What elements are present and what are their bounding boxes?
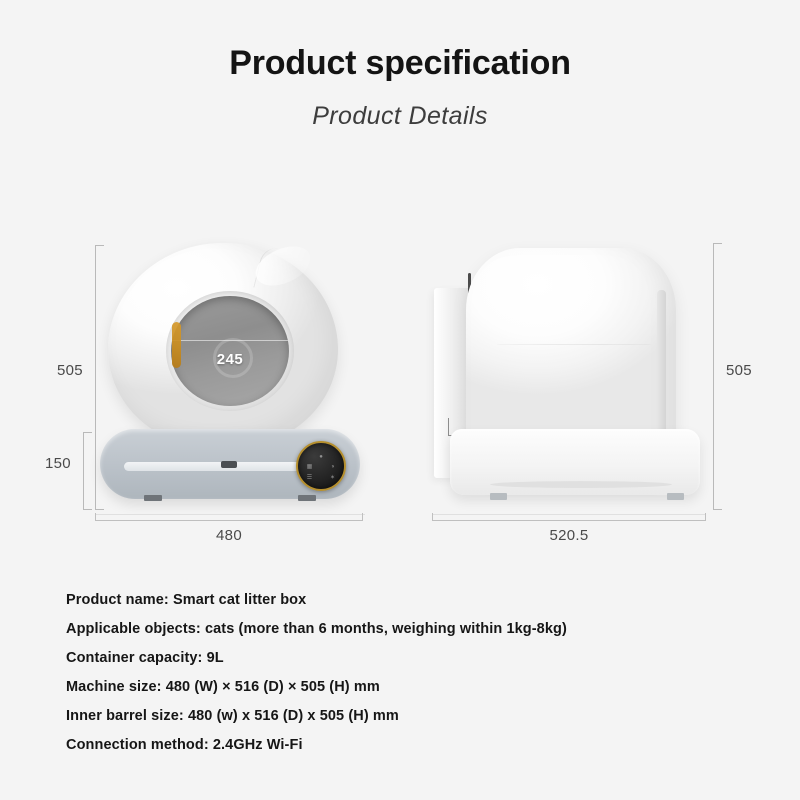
- litter-chamber: 245: [171, 296, 289, 406]
- spec-machine-size: Machine size: 480 (W) × 516 (D) × 505 (H…: [66, 679, 726, 695]
- front-foot-left: [144, 495, 162, 501]
- front-foot-right: [298, 495, 316, 501]
- base-slot: [124, 462, 312, 471]
- spec-applicable-objects: Applicable objects: cats (more than 6 mo…: [66, 621, 726, 637]
- control-panel-glyphs: ● ▦ ◑ ☰ ✶: [298, 452, 344, 483]
- mode-icon: ◑: [331, 464, 335, 470]
- dome-body: 245: [108, 243, 338, 448]
- front-floor-line: [95, 514, 365, 515]
- side-foot-right: [667, 493, 684, 500]
- front-base-height-label: 150: [45, 455, 71, 472]
- side-floor-line: [432, 514, 706, 515]
- product-base: ● ▦ ◑ ☰ ✶: [100, 429, 360, 499]
- base-port: [221, 461, 237, 468]
- side-height-label: 505: [726, 362, 752, 379]
- entrance-opening: 245: [166, 291, 294, 411]
- dome-seam: [253, 245, 303, 298]
- spec-connection-method: Connection method: 2.4GHz Wi-Fi: [66, 737, 726, 753]
- side-foot-left: [490, 493, 507, 500]
- side-right-edge: [657, 290, 666, 450]
- star-icon: ✶: [330, 475, 335, 481]
- page-title: Product specification: [0, 44, 800, 83]
- side-view-product-image: [432, 243, 707, 513]
- front-width-label: 480: [95, 527, 363, 544]
- specification-list: Product name: Smart cat litter box Appli…: [66, 592, 726, 766]
- front-view-product-image: 245 ● ▦ ◑ ☰ ✶: [100, 243, 360, 513]
- power-icon: ●: [319, 454, 323, 460]
- control-panel-dial: ● ▦ ◑ ☰ ✶: [296, 441, 346, 491]
- side-drawer: [450, 429, 700, 495]
- front-width-bracket: [95, 520, 363, 521]
- menu-icon: ☰: [307, 475, 312, 481]
- front-height-bracket: [95, 245, 96, 510]
- side-height-bracket: [713, 243, 714, 510]
- product-specification-page: Product specification Product Details 24…: [0, 0, 800, 800]
- side-width-label: 520.5: [432, 527, 706, 544]
- front-base-height-bracket: [83, 432, 84, 510]
- spec-product-name: Product name: Smart cat litter box: [66, 592, 726, 608]
- front-height-label: 505: [57, 362, 83, 379]
- spec-container-capacity: Container capacity: 9L: [66, 650, 726, 666]
- page-subtitle: Product Details: [0, 102, 800, 131]
- grid-icon: ▦: [307, 464, 313, 470]
- litter-level-value: 245: [171, 351, 289, 368]
- side-width-bracket: [432, 520, 706, 521]
- amber-accent-strip: [172, 322, 181, 368]
- spec-inner-barrel-size: Inner barrel size: 480 (w) x 516 (D) x 5…: [66, 708, 726, 724]
